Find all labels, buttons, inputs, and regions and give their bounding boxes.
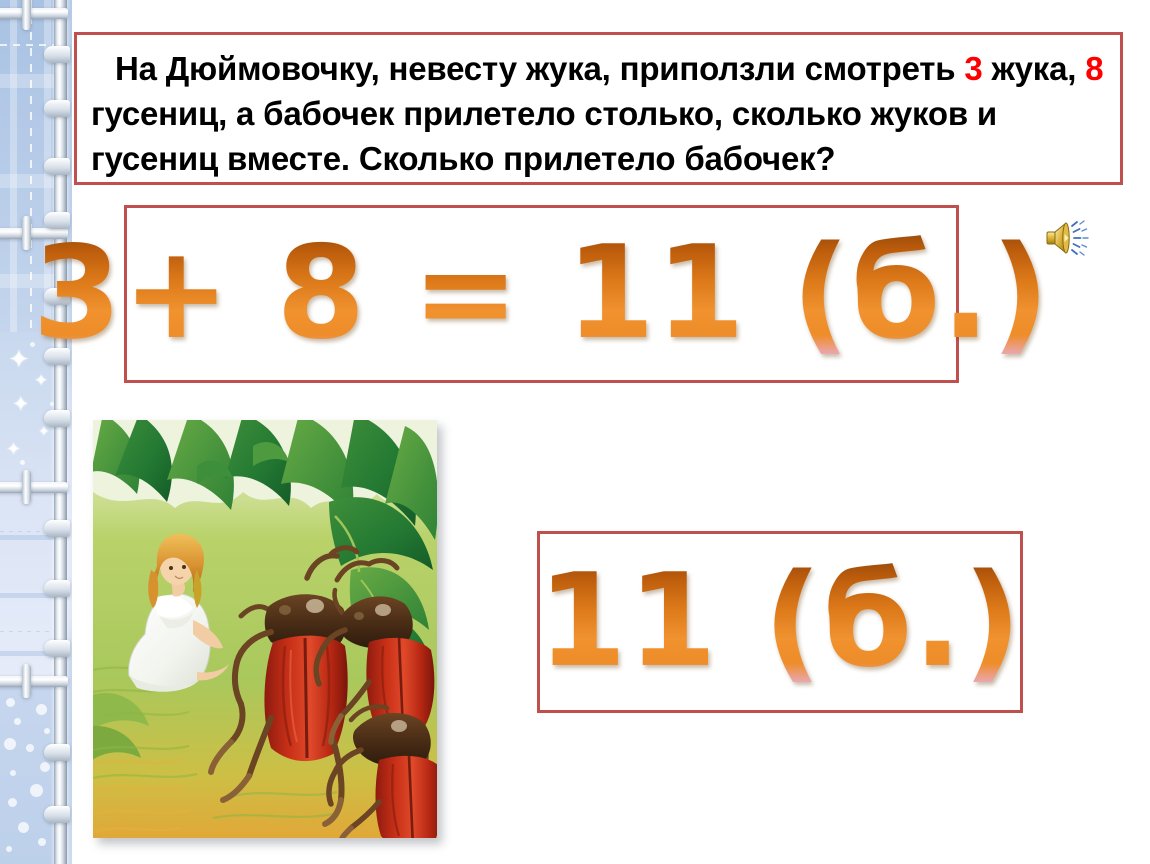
ribbon-horizontal-mid2 [0,482,68,493]
thumbelina-beetles-illustration [93,420,437,838]
ribbon-tab-12 [44,806,70,823]
speaker-icon[interactable] [1044,218,1090,258]
ribbon-strap-1 [22,0,31,30]
ribbon-horizontal-top [0,8,68,19]
ribbon-tab-9 [44,580,70,597]
ribbon-strap-4 [22,664,31,698]
problem-line3: гусениц вместе. Сколько прилетело бабоче… [91,140,835,177]
problem-number-beetles: 3 [964,50,982,87]
problem-line1-part-b: жука, [982,50,1076,87]
problem-line1-part-a: На Дюймовочку, невесту жука, приползли с… [115,50,964,87]
ribbon-tab-2 [44,100,70,117]
answer-text: 11 (б.) [538,558,1023,686]
ribbon-vertical [54,0,67,864]
answer-box: 11 (б.) [537,531,1023,713]
ribbon-tab-11 [44,744,70,761]
ribbon-tab-3 [44,158,70,175]
ribbon-strap-3 [22,470,31,504]
equation-text: 3+ 8 = 11 (б.) [33,230,1051,358]
ribbon-tab-10 [44,640,70,657]
ribbon-tab-1 [44,46,70,63]
problem-line2-part-b: гусениц, а бабочек прилетело столько, ск… [91,95,997,132]
ribbon-tab-8 [44,520,70,537]
problem-number-caterpillars: 8 [1085,50,1103,87]
ribbon-horizontal-bottom [0,676,68,687]
ribbon-tab-7 [44,410,70,427]
equation-box: 3+ 8 = 11 (б.) [124,205,959,383]
ribbon-strap-2 [22,216,31,250]
decorative-sidebar: ✦ ✦ ✦ ✦ ✦ [0,0,72,864]
slide: ✦ ✦ ✦ ✦ ✦ [0,0,1150,864]
problem-statement-box: На Дюймовочку, невесту жука, приползли с… [74,32,1123,185]
problem-text: На Дюймовочку, невесту жука, приползли с… [77,35,1120,182]
